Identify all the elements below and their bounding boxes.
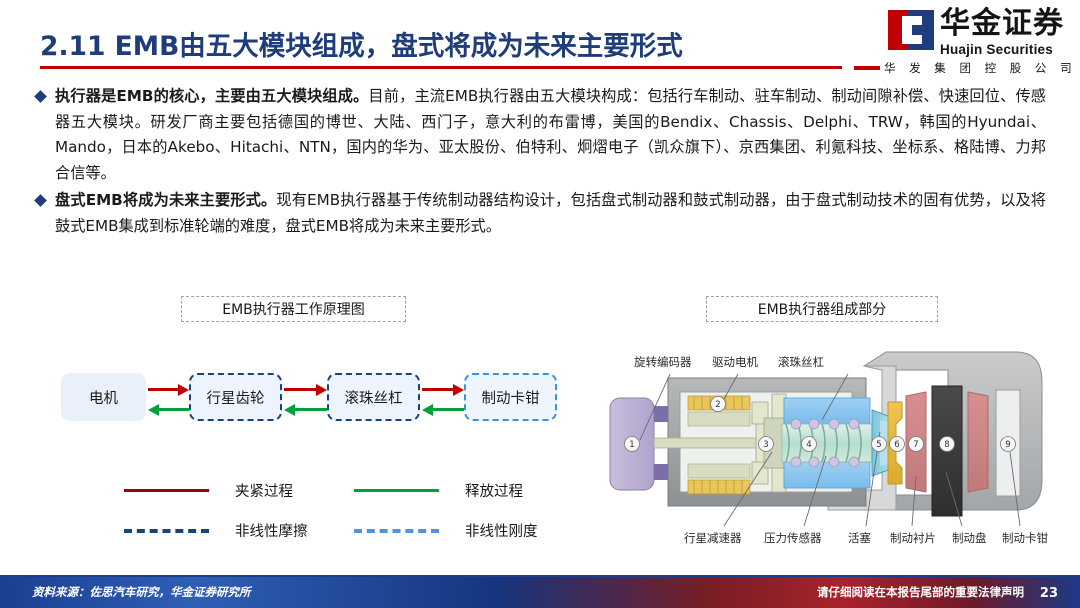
page-title: 2.11 EMB由五大模块组成，盘式将成为未来主要形式	[40, 24, 683, 63]
body-content: 执行器是EMB的核心，主要由五大模块组成。目前，主流EMB执行器由五大模块构成：…	[36, 84, 1046, 241]
legend-swatch-solid-green-icon	[354, 489, 439, 492]
diamond-bullet-icon	[34, 194, 47, 207]
bullet-item: 盘式EMB将成为未来主要形式。现有EMB执行器基于传统制动器结构设计，包括盘式制…	[36, 188, 1046, 239]
slide-root: 华金证券 Huajin Securities 华 发 集 团 控 股 公 司 2…	[0, 0, 1080, 608]
mech-label-brake-disc: 制动盘	[952, 530, 987, 546]
mech-label-ball-screw: 滚珠丝杠	[778, 354, 824, 370]
svg-text:5: 5	[876, 440, 881, 450]
svg-text:3: 3	[763, 440, 768, 450]
bullet-lead-text: 盘式EMB将成为未来主要形式。	[55, 191, 276, 209]
mech-label-piston: 活塞	[848, 530, 871, 546]
flow-node-motor: 电机	[61, 373, 146, 421]
svg-text:1: 1	[629, 440, 634, 450]
legend-swatch-dashed-blue-icon	[354, 529, 439, 533]
bullet-paragraph: 执行器是EMB的核心，主要由五大模块组成。目前，主流EMB执行器由五大模块构成：…	[55, 84, 1046, 186]
flow-node-planetary-gear: 行星齿轮	[189, 373, 282, 421]
logo-subtitle: 华 发 集 团 控 股 公 司	[884, 60, 1077, 76]
mech-label-brake-lining: 制动衬片	[890, 530, 936, 546]
legend-item-clamping: 夹紧过程	[124, 480, 293, 501]
legend-label: 非线性刚度	[465, 520, 538, 541]
mech-label-pressure-sensor: 压力传感器	[764, 530, 822, 546]
footer-page-number: 23	[1040, 586, 1058, 601]
logo-chinese-name: 华金证券	[940, 8, 1064, 40]
bullet-paragraph: 盘式EMB将成为未来主要形式。现有EMB执行器基于传统制动器结构设计，包括盘式制…	[55, 188, 1046, 239]
flowchart-legend: 夹紧过程 释放过程 非线性摩擦 非线性刚度	[36, 472, 596, 544]
legend-label: 释放过程	[465, 480, 523, 501]
figure-caption-right: EMB执行器组成部分	[706, 296, 938, 322]
footer-source-text: 资料来源：佐思汽车研究，华金证券研究所	[32, 584, 251, 600]
legend-swatch-dashed-navy-icon	[124, 529, 209, 533]
footer-disclaimer-text: 请仔细阅读在本报告尾部的重要法律声明	[817, 584, 1024, 600]
diamond-bullet-icon	[34, 90, 47, 103]
figure-caption-left: EMB执行器工作原理图	[181, 296, 406, 322]
mech-label-brake-caliper: 制动卡钳	[1002, 530, 1048, 546]
title-underline-rule	[40, 66, 842, 69]
legend-item-nonlinear-friction: 非线性摩擦	[124, 520, 308, 541]
flow-node-ball-screw: 滚珠丝杠	[327, 373, 420, 421]
emb-principle-flowchart: 电机 行星齿轮 滚珠丝杠 制动卡钳	[36, 340, 596, 460]
huajin-logo-mark-icon	[888, 10, 934, 50]
legend-swatch-solid-red-icon	[124, 489, 209, 492]
emb-actuator-cutaway-diagram: 1 2 3 4 5 6 7 8 9 旋转编码器 驱动电机 滚珠丝杠 行星减速器 …	[596, 340, 1048, 552]
cutaway-illustration: 1 2 3 4 5 6 7 8 9	[596, 340, 1048, 552]
mech-label-drive-motor: 驱动电机	[712, 354, 758, 370]
legend-label: 夹紧过程	[235, 480, 293, 501]
mech-label-planetary-reducer: 行星减速器	[684, 530, 742, 546]
legend-label: 非线性摩擦	[235, 520, 308, 541]
bullet-item: 执行器是EMB的核心，主要由五大模块组成。目前，主流EMB执行器由五大模块构成：…	[36, 84, 1046, 186]
footer-bar: 资料来源：佐思汽车研究，华金证券研究所 请仔细阅读在本报告尾部的重要法律声明 2…	[0, 577, 1080, 608]
svg-text:9: 9	[1005, 440, 1010, 450]
legend-item-releasing: 释放过程	[354, 480, 523, 501]
svg-text:7: 7	[913, 440, 918, 450]
mech-label-rotary-encoder: 旋转编码器	[634, 354, 692, 370]
svg-text:8: 8	[944, 440, 949, 450]
svg-text:4: 4	[806, 440, 811, 450]
company-logo: 华金证券 Huajin Securities 华 发 集 团 控 股 公 司	[866, 8, 1066, 74]
flow-node-brake-caliper: 制动卡钳	[464, 373, 557, 421]
legend-item-nonlinear-stiffness: 非线性刚度	[354, 520, 538, 541]
svg-text:2: 2	[715, 400, 720, 410]
logo-english-name: Huajin Securities	[940, 42, 1053, 57]
bullet-lead-text: 执行器是EMB的核心，主要由五大模块组成。	[55, 87, 368, 105]
svg-text:6: 6	[894, 440, 899, 450]
logo-subtitle-rule	[854, 66, 880, 70]
